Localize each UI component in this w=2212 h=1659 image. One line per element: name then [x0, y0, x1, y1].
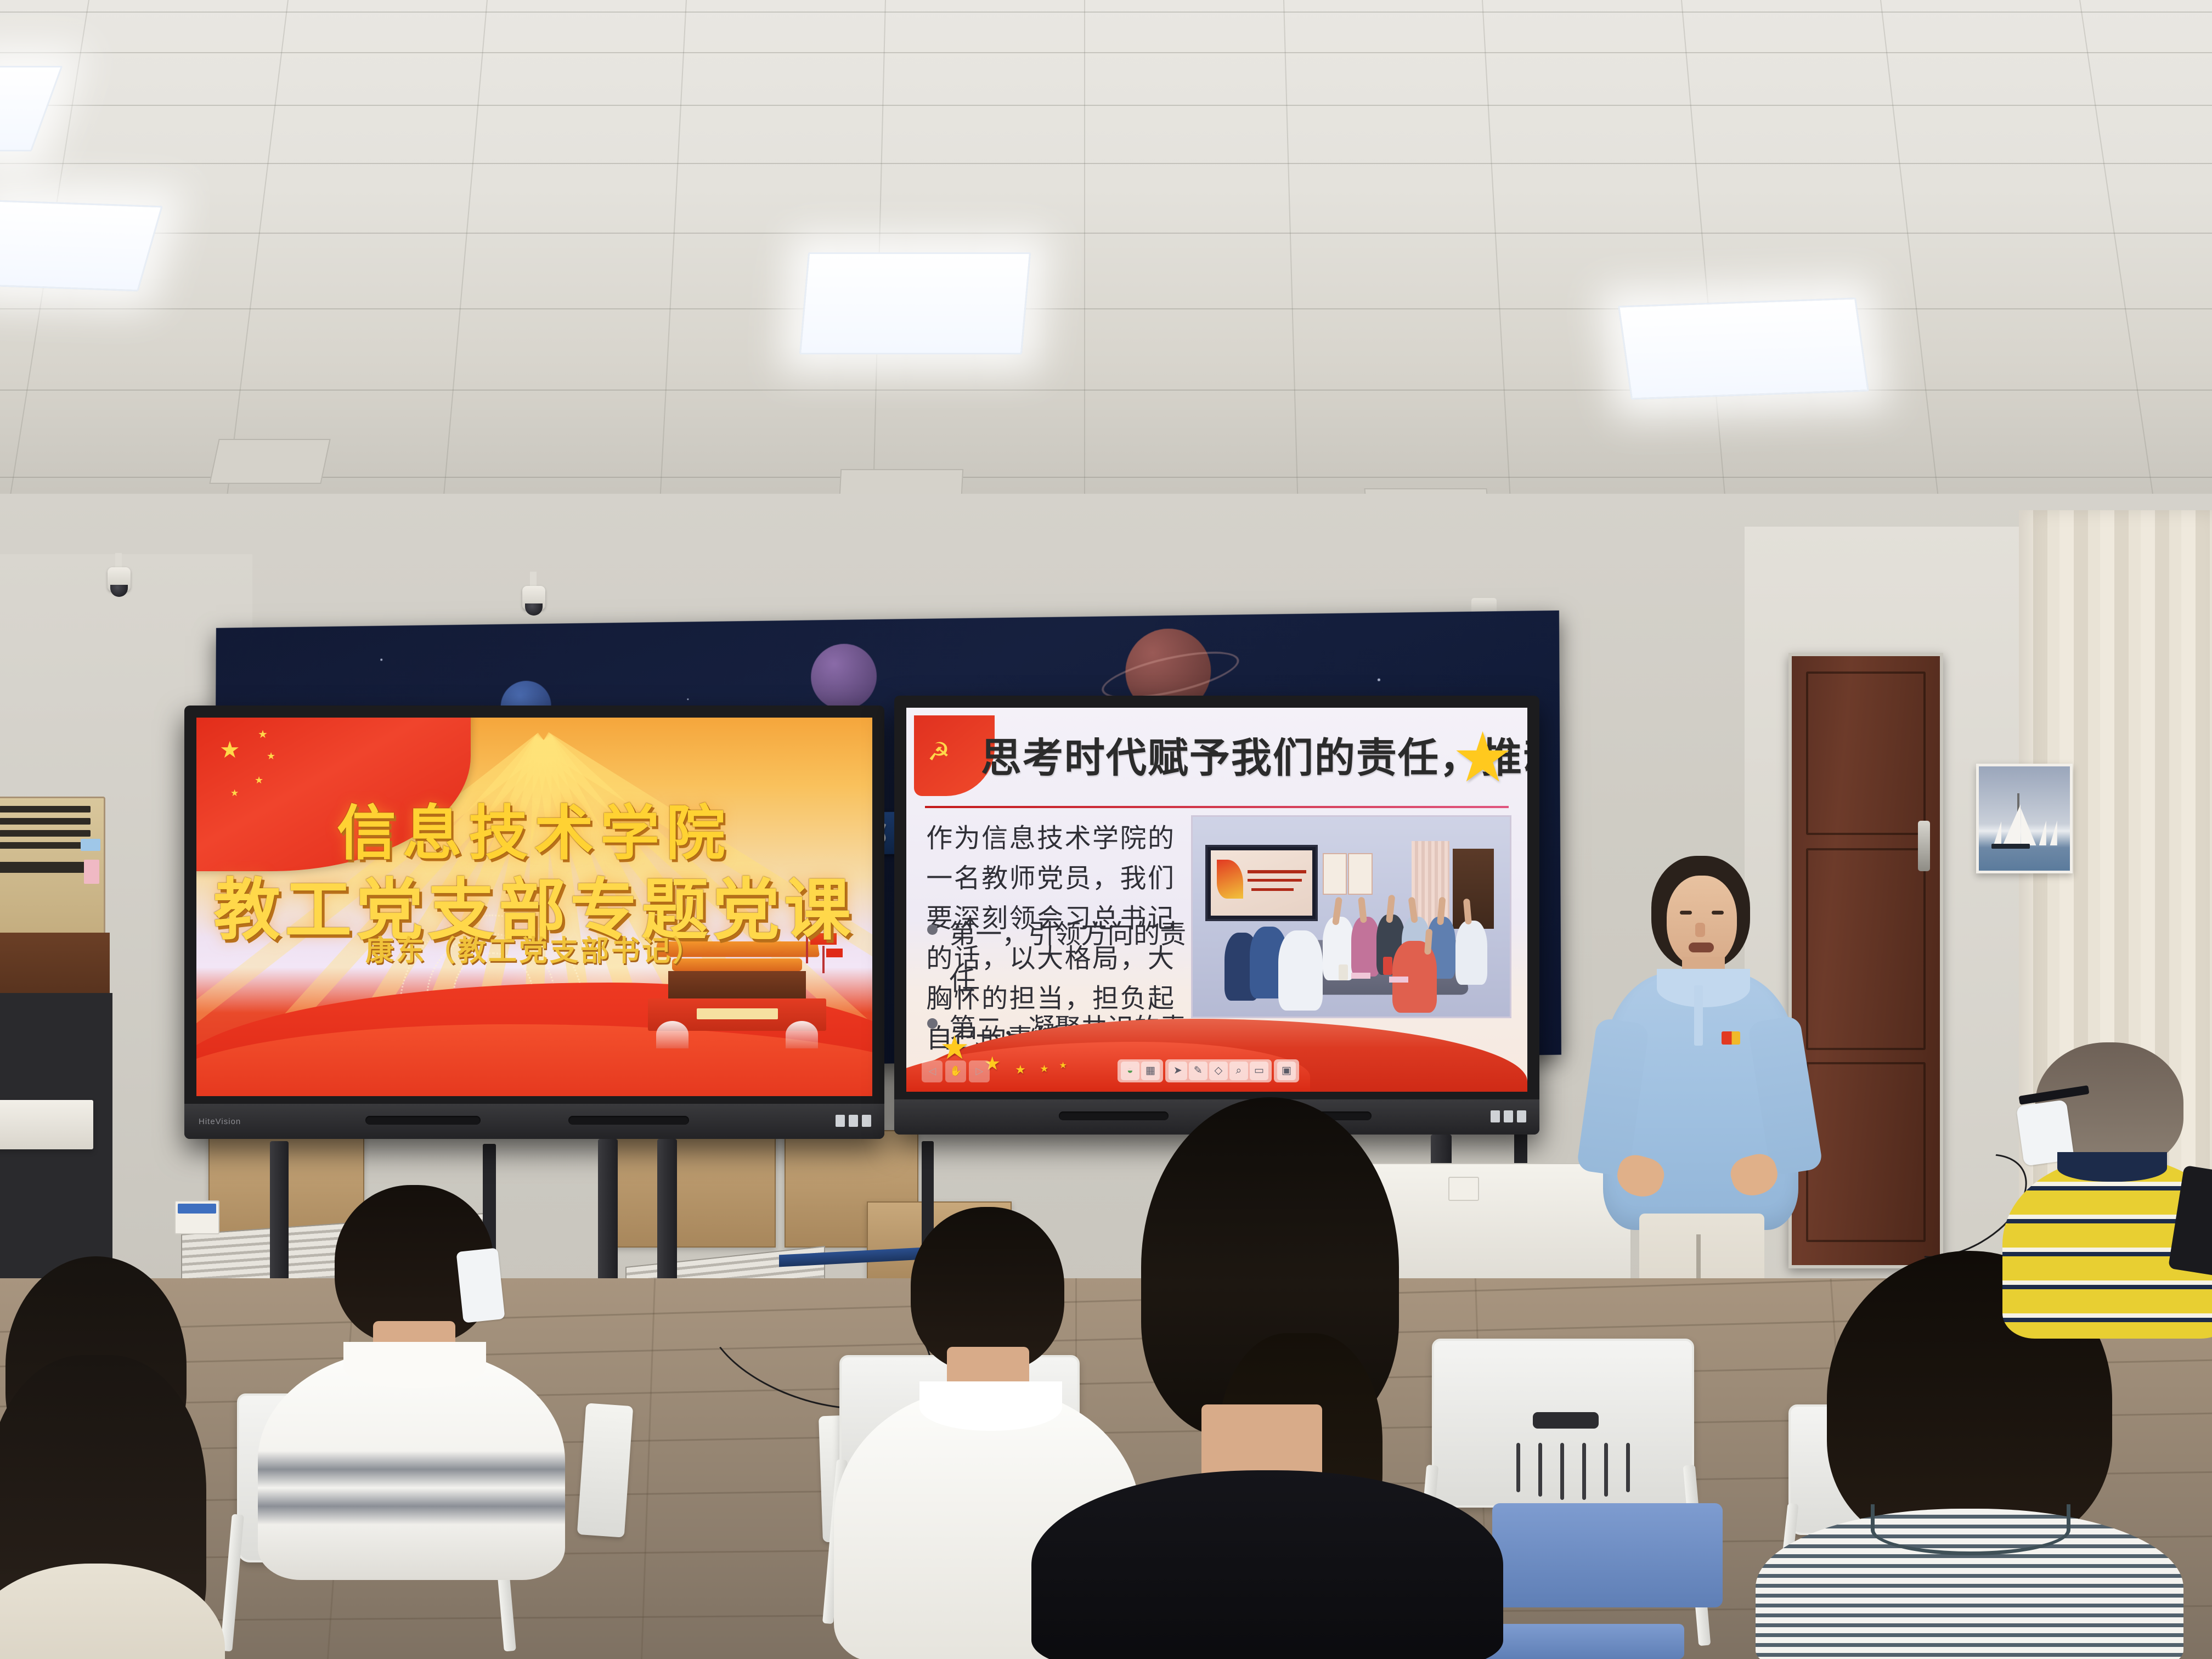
collar — [2057, 1152, 2167, 1182]
title-underline — [925, 806, 1509, 808]
next-slide-button[interactable]: ▷ — [969, 1060, 990, 1082]
classroom-scene: ▸▸▸▸▸▸▸▸▸▸▸▸ VR实训室内部 ▸▸▸▸▸▸▸▸▸▸▸▸ VR虚拟现实… — [0, 0, 2212, 1659]
ppt-toolbar[interactable]: ◒ ▦ ➤ ✎ ◇ ⌕ ▭ ▣ — [1118, 1059, 1299, 1082]
annotate-button[interactable]: ✋ — [945, 1060, 966, 1082]
torso — [1031, 1470, 1503, 1659]
white-desk — [0, 1100, 93, 1149]
door-handle[interactable] — [1918, 821, 1930, 871]
eraser-icon[interactable]: ◇ — [1209, 1062, 1228, 1080]
chair-seat-cushion[interactable] — [1492, 1503, 1723, 1607]
right-display-screen[interactable]: ☭ 思考时代赋予我们的责任，推动学院内涵发展 ★ 作为信息技术学院的一名教师党员… — [906, 708, 1527, 1092]
sailboat-painting — [1976, 764, 2073, 873]
pen-icon[interactable]: ✎ — [1189, 1062, 1207, 1080]
ppt-nav-bar[interactable]: ◁ ✋ ▷ — [922, 1060, 990, 1082]
ac-warning-label — [84, 860, 99, 884]
display-brand-label: HiteVision — [199, 1117, 241, 1126]
list-item: 第一，引领方向的责任 — [926, 911, 1193, 1005]
ceiling-light-panel — [0, 200, 163, 292]
right-smart-display[interactable]: ☭ 思考时代赋予我们的责任，推动学院内涵发展 ★ 作为信息技术学院的一名教师党员… — [894, 696, 1539, 1135]
left-display-screen[interactable]: ★ ★ ★ ★ ★ — [196, 718, 872, 1096]
ac-sticker — [81, 839, 100, 851]
ceiling-light-panel — [1618, 297, 1869, 399]
collar — [343, 1342, 486, 1388]
previous-slide-button[interactable]: ◁ — [922, 1060, 943, 1082]
audience-member — [1986, 1042, 2212, 1393]
pointer-icon[interactable]: ➤ — [1169, 1062, 1187, 1080]
audience-member — [0, 1256, 219, 1659]
face-mask — [456, 1248, 505, 1323]
right-slide-title: 思考时代赋予我们的责任，推动学院内涵发展 — [981, 725, 1471, 784]
presenter-placket — [1694, 985, 1703, 1046]
left-display-chin: HiteVision — [184, 1104, 884, 1139]
audience-member — [236, 1185, 587, 1659]
air-conditioner — [0, 797, 105, 937]
left-slide: ★ ★ ★ ★ ★ — [196, 718, 872, 1096]
wall-outlet — [174, 1200, 219, 1234]
right-slide: ☭ 思考时代赋予我们的责任，推动学院内涵发展 ★ 作为信息技术学院的一名教师党员… — [906, 708, 1527, 1092]
end-show-icon[interactable]: ▣ — [1277, 1062, 1296, 1080]
presenter-view-icon[interactable]: ◒ — [1121, 1062, 1139, 1080]
display-ports — [836, 1115, 871, 1127]
party-emblem-pin — [1722, 1031, 1740, 1045]
ceiling-light-panel — [0, 66, 63, 151]
presenter-collar — [1657, 969, 1750, 1007]
all-slides-icon[interactable]: ▦ — [1141, 1062, 1160, 1080]
meeting-photo — [1191, 815, 1511, 1018]
neckline — [1871, 1504, 2070, 1555]
blank-screen-icon[interactable]: ▭ — [1250, 1062, 1268, 1080]
zoom-icon[interactable]: ⌕ — [1229, 1062, 1248, 1080]
ceiling-vent — [209, 439, 330, 484]
audience-member — [1020, 1097, 1514, 1659]
left-smart-display[interactable]: ★ ★ ★ ★ ★ — [184, 706, 884, 1139]
hammer-sickle-icon: ☭ — [927, 737, 950, 766]
ceiling-light-panel — [799, 252, 1031, 354]
left-slide-byline: 康东（教工党支部书记） — [196, 928, 872, 969]
presenter-face — [1667, 876, 1737, 967]
gold-star-icon: ★ — [1452, 723, 1514, 792]
planet-purple-icon — [811, 644, 877, 710]
